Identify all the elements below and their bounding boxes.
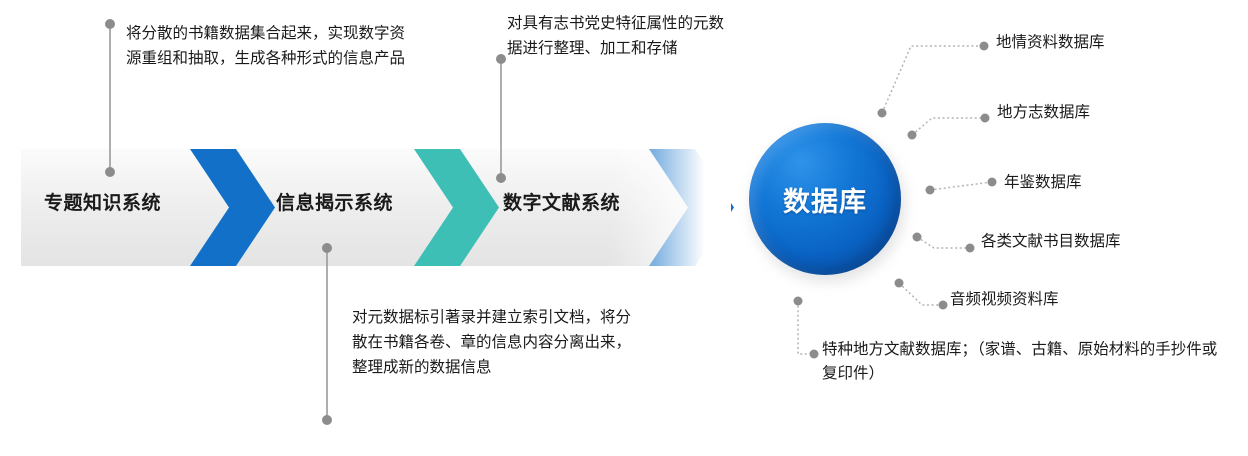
- chevron-after-stage-1: [186, 149, 278, 266]
- process-stage-label-topic-knowledge: 专题知识系统: [44, 188, 161, 215]
- diagram-canvas: 专题知识系统 信息揭示系统 数字文献系统 数据库: [0, 0, 1248, 456]
- connector-db-item-local-chronicles: [908, 114, 990, 140]
- connector-callout-information-disclosure: [322, 243, 332, 425]
- chevron-after-stage-2: [410, 149, 502, 266]
- connector-db-item-local-conditions: [878, 42, 989, 118]
- callout-text-topic-knowledge: 将分散的书籍数据集合起来，实现数字资源重组和抽取，生成各种形式的信息产品: [126, 21, 411, 71]
- db-item-label-yearbook: 年鉴数据库: [1004, 171, 1082, 195]
- chevron-after-stage-3: [645, 149, 737, 266]
- connector-db-item-bibliographic: [913, 233, 975, 253]
- process-stage-label-information-disclosure: 信息揭示系统: [276, 188, 393, 215]
- connector-db-item-audio-video: [895, 279, 948, 310]
- database-circle-label: 数据库: [783, 180, 867, 219]
- db-item-label-bibliographic: 各类文献书目数据库: [981, 230, 1121, 254]
- database-circle: 数据库: [749, 123, 901, 275]
- db-item-label-special-local: 特种地方文献数据库；（家谱、古籍、原始材料的手抄件或复印件）: [822, 338, 1222, 386]
- connector-db-item-yearbook: [926, 178, 997, 195]
- process-stage-label-digital-literature: 数字文献系统: [503, 188, 620, 215]
- db-item-label-local-conditions: 地情资料数据库: [996, 31, 1105, 55]
- callout-text-digital-literature: 对具有志书党史特征属性的元数据进行整理、加工和存储: [507, 11, 739, 61]
- db-item-label-local-chronicles: 地方志数据库: [997, 101, 1090, 125]
- callout-text-information-disclosure: 对元数据标引著录并建立索引文档，将分散在书籍各卷、章的信息内容分离出来，整理成新…: [352, 305, 642, 380]
- db-item-label-audio-video: 音频视频资料库: [950, 288, 1059, 312]
- connector-db-item-special-local: [794, 297, 819, 359]
